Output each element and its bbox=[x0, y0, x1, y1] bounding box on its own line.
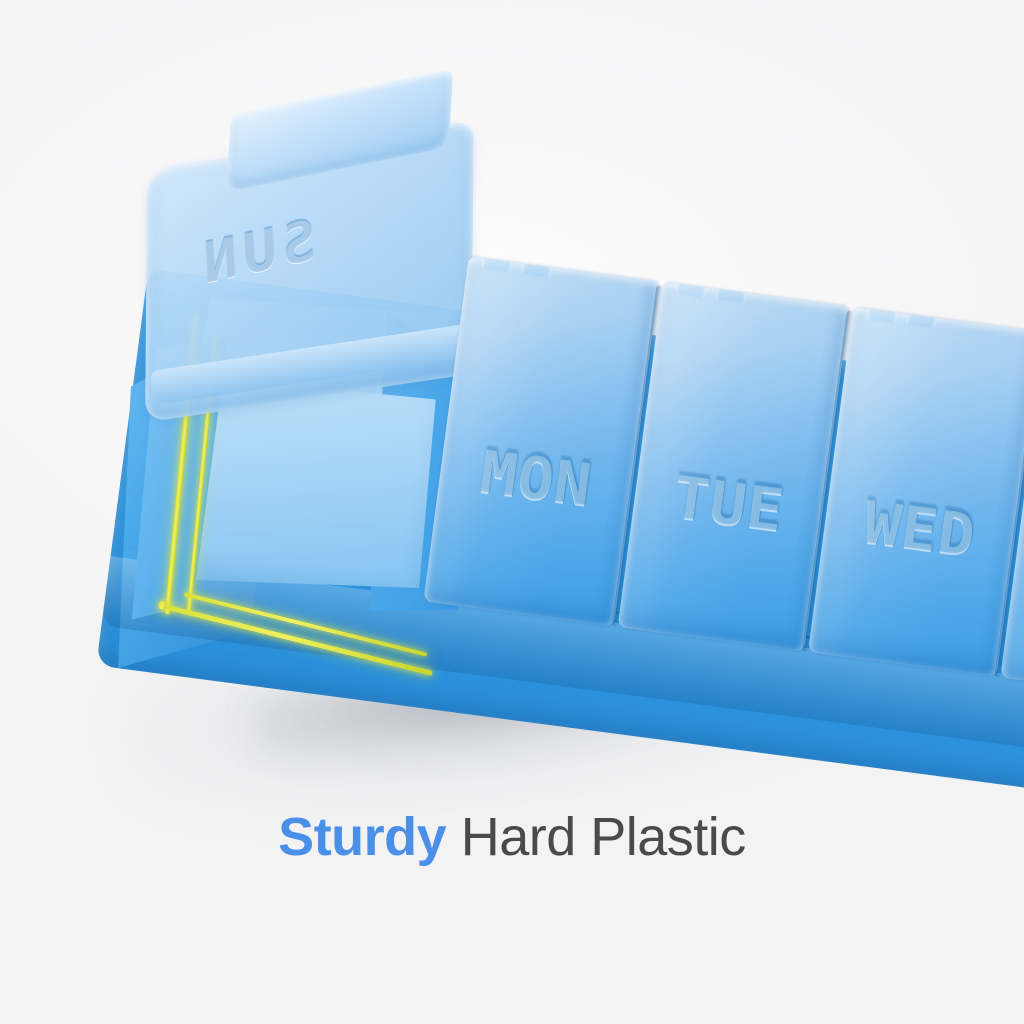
caption-rest: Hard Plastic bbox=[446, 807, 746, 867]
hinge-nub-icon bbox=[715, 282, 748, 304]
caption: Sturdy Hard Plastic bbox=[0, 808, 1024, 867]
hinge-nub-icon bbox=[521, 256, 554, 278]
product-photo-canvas: SUN MON TUE WED TH Sturdy Hard Plastic bbox=[0, 0, 1024, 1024]
highlight-corner-joint bbox=[158, 601, 167, 610]
open-lid-sun[interactable]: SUN bbox=[145, 121, 474, 423]
hinge-nub-icon bbox=[866, 307, 899, 324]
hinge-nub-icon bbox=[906, 307, 939, 329]
day-label-tue: TUE bbox=[631, 457, 827, 551]
caption-emphasis: Sturdy bbox=[278, 807, 446, 867]
hinge-nub-icon bbox=[481, 256, 514, 273]
hinge-nub-icon bbox=[676, 282, 709, 299]
day-label-wed: WED bbox=[821, 482, 1019, 576]
day-label-mon: MON bbox=[437, 431, 636, 525]
